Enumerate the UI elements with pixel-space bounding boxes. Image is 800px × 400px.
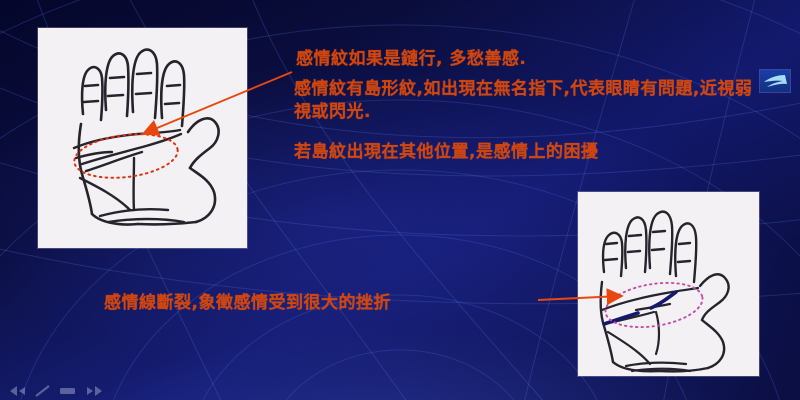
- swoosh-logo: [760, 70, 790, 92]
- next-slide-button[interactable]: [84, 385, 104, 397]
- palm-image-left: [38, 28, 247, 248]
- paragraph-island-elsewhere: 若島紋出現在其他位置,是感情上的困擾: [294, 137, 598, 162]
- palm-drawing-right: [578, 192, 759, 376]
- rectangle-icon: [58, 385, 78, 397]
- paragraph-island-line: 感情紋有島形紋,如出現在無名指下,代表眼睛有問題,近視弱視或閃光.: [294, 78, 764, 124]
- palm-image-right: [578, 192, 759, 376]
- pen-tool-button[interactable]: [33, 385, 53, 397]
- previous-slide-button[interactable]: [8, 385, 28, 397]
- slide-menu-button[interactable]: [58, 385, 78, 397]
- slideshow-navbar: [0, 382, 800, 400]
- paragraph-broken-line: 感情線斷裂,象徵感情受到很大的挫折: [104, 288, 391, 313]
- pen-icon: [33, 385, 53, 397]
- paragraph-chained-line: 感情紋如果是鏈行, 多愁善感.: [296, 44, 526, 69]
- swoosh-icon: [760, 70, 790, 92]
- arrow-right-icon: [84, 385, 104, 397]
- arrow-left-icon: [8, 385, 28, 397]
- palm-drawing-left: [38, 28, 247, 248]
- presentation-slide: 感情紋如果是鏈行, 多愁善感. 感情紋有島形紋,如出現在無名指下,代表眼睛有問題…: [0, 0, 800, 400]
